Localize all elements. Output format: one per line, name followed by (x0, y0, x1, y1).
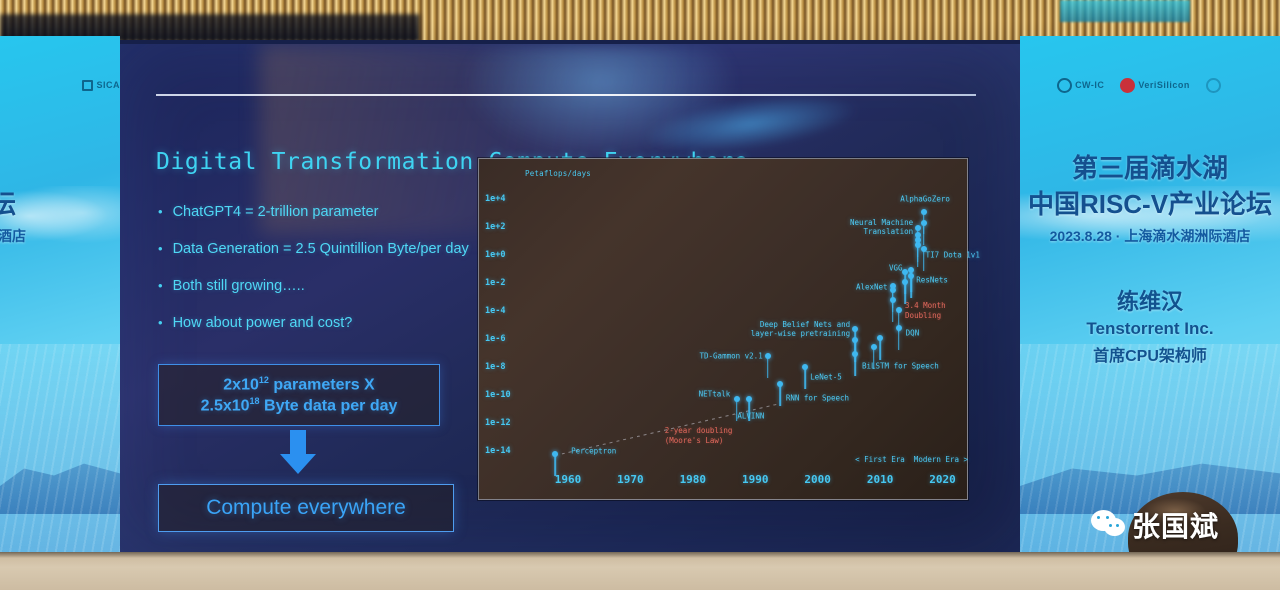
banner-speaker-company: Tenstorrent Inc. (1020, 319, 1280, 339)
data-point (915, 225, 921, 231)
formula-1-suffix: parameters X (269, 376, 375, 393)
formula-1-base: 2x10 (223, 376, 259, 393)
bullet-text: Both still growing….. (173, 278, 305, 294)
bullet-text: Data Generation = 2.5 Quintillion Byte/p… (173, 241, 469, 257)
data-point-labeled (777, 381, 783, 387)
data-point-stem (923, 249, 925, 271)
banner-speaker-role: 首席CPU架构师 (1020, 342, 1280, 366)
down-arrow-icon (280, 430, 316, 474)
wechat-eye (1097, 516, 1100, 519)
data-point-stem (555, 454, 557, 476)
wechat-bubble-small (1104, 518, 1125, 536)
banner-title-line-1: 第三届滴水湖 (1020, 148, 1280, 185)
cwic-label: CW-IC (1075, 80, 1104, 90)
x-axis-tick: 2010 (867, 473, 894, 486)
data-point-labeled (890, 287, 896, 293)
conclusion-text: Compute everywhere (206, 496, 406, 520)
formula-2-base: 2.5x10 (201, 397, 250, 414)
projector-glare (450, 46, 750, 166)
doubling-annotation: 2-year doubling (Moore's Law) (665, 426, 733, 446)
data-point-labeled (734, 396, 740, 402)
data-point-label: ResNets (916, 276, 948, 285)
banner-left-role: 师 (0, 342, 70, 366)
banner-title-line-2: 中国RISC-V产业论坛 (1020, 184, 1280, 221)
data-point-stem (892, 290, 894, 312)
sica-mark (82, 80, 93, 91)
projected-slide: Digital Transformation Compute Everywher… (120, 44, 1020, 552)
data-point (896, 307, 902, 313)
cwic-logo: CW-IC (1057, 78, 1104, 93)
x-axis-tick: 1960 (555, 473, 582, 486)
data-point-stem (854, 329, 856, 351)
data-point (871, 344, 877, 350)
y-axis-tick: 1e-6 (485, 334, 505, 344)
conclusion-box: Compute everywhere (158, 484, 454, 532)
verisilicon-label: VeriSilicon (1138, 80, 1190, 90)
data-point-labeled (852, 351, 858, 357)
partner-logo-4 (1237, 80, 1243, 90)
y-axis-tick: 1e-10 (485, 390, 511, 400)
data-point-label: Neural Machine Translation (850, 218, 913, 236)
ceiling-light-accent (1060, 0, 1190, 22)
sica-logo: SICA (82, 80, 120, 91)
bullet-dot-icon: • (158, 315, 163, 331)
formula-1-exp: 12 (259, 375, 269, 385)
banner-left-date-venue: 洲际酒店 (0, 226, 90, 246)
wechat-eye (1109, 524, 1112, 527)
verisilicon-mark (1120, 78, 1135, 93)
data-point-label: NETtalk (699, 389, 731, 398)
data-point-stem (879, 338, 881, 360)
bullet-text: ChatGPT4 = 2-trillion parameter (173, 204, 379, 220)
data-point-labeled (802, 364, 808, 370)
data-point-labeled (852, 326, 858, 332)
data-point-stem (911, 270, 913, 292)
y-axis-tick: 1e+4 (485, 194, 505, 204)
chart-axis-title: Petaflops/days (525, 169, 591, 178)
wechat-eye (1116, 524, 1119, 527)
data-point-label: TD-Gammon v2.1 (700, 351, 763, 360)
banner-sponsor-logo-row: CW-IC VeriSilicon (1020, 72, 1280, 98)
bullet-dot-icon: • (158, 241, 163, 257)
arrow-head (280, 454, 316, 474)
banner-left: SICA 水湖 业论坛 洲际酒店 nc. 师 (0, 36, 120, 554)
y-axis-tick: 1e-14 (485, 446, 511, 456)
bullet-dot-icon: • (158, 278, 163, 294)
doubling-annotation: 3.4 Month Doubling (905, 301, 946, 321)
banner-left-title-2: 业论坛 (0, 184, 58, 221)
banner-speaker-name: 练维汉 (1020, 284, 1280, 316)
data-point-label: Perceptron (571, 447, 616, 456)
bullet-dot-icon: • (158, 204, 163, 220)
data-point-stem (854, 354, 856, 376)
data-point-stem (904, 272, 906, 294)
data-point-label: TI7 Dota 1v1 (926, 251, 980, 260)
data-point-label: VGG (889, 263, 903, 272)
data-point-label: RNN for Speech (786, 393, 849, 402)
formula-callout-box: 2x1012 parameters X 2.5x1018 Byte data p… (158, 364, 440, 426)
floor-shadow (0, 552, 1280, 558)
data-point-label: LeNet-5 (810, 372, 842, 381)
formula-line-2: 2.5x1018 Byte data per day (201, 396, 398, 415)
title-rule (156, 94, 976, 96)
data-point-stem (767, 356, 769, 378)
data-point-labeled (552, 451, 558, 457)
data-point-labeled (746, 396, 752, 402)
partner-3-mark (1206, 78, 1221, 93)
data-point-labeled (908, 267, 914, 273)
banner-water (0, 344, 120, 554)
banner-left-company: nc. (0, 319, 78, 339)
data-point-stem (804, 367, 806, 389)
banner-left-logo-row: SICA (0, 72, 120, 98)
watermark: 张国斌 (1091, 505, 1219, 545)
data-point-labeled (921, 209, 927, 215)
arrow-stem (290, 430, 306, 456)
banner-right: CW-IC VeriSilicon 第三届滴水湖 中国RISC-V产业论坛 20… (1020, 36, 1280, 554)
data-point-stem (917, 235, 919, 257)
x-axis-tick: 1980 (680, 473, 707, 486)
formula-2-suffix: Byte data per day (260, 397, 398, 414)
wechat-icon (1091, 510, 1125, 540)
y-axis-tick: 1e-4 (485, 306, 505, 316)
x-axis-tick: 1970 (617, 473, 644, 486)
banner-left-title-1: 水湖 (0, 148, 42, 185)
partner-logo-3 (1206, 78, 1221, 93)
era-annotation: < First Era Modern Era > (855, 455, 968, 464)
bullet-text: How about power and cost? (173, 315, 353, 331)
formula-line-1: 2x1012 parameters X (223, 375, 374, 394)
data-point-stem (779, 384, 781, 406)
verisilicon-logo: VeriSilicon (1120, 78, 1190, 93)
y-axis-tick: 1e-12 (485, 418, 511, 428)
data-point-label: Deep Belief Nets and layer-wise pretrain… (751, 320, 850, 338)
partner-logo-faint (43, 80, 52, 90)
data-point (877, 335, 883, 341)
y-axis-tick: 1e+0 (485, 250, 505, 260)
chart-plot-area: Petaflops/days1e+41e+21e+01e-21e-41e-61e… (479, 159, 967, 499)
y-axis-tick: 1e+2 (485, 222, 505, 232)
data-point-labeled (896, 325, 902, 331)
data-point-label: BiLSTM for Speech (862, 361, 939, 370)
data-point-labeled (765, 353, 771, 359)
cwic-mark (1057, 78, 1072, 93)
data-point-label: AlexNet (856, 283, 888, 292)
x-axis-tick: 1990 (742, 473, 769, 486)
data-point-stem (898, 328, 900, 350)
watermark-text: 张国斌 (1132, 505, 1219, 545)
data-point-label: DQN (906, 329, 920, 338)
sica-logo-label: SICA (96, 80, 120, 90)
formula-2-exp: 18 (250, 396, 260, 406)
data-point-stem (923, 212, 925, 234)
data-point-label: ALVINN (737, 412, 764, 421)
data-point-labeled (915, 232, 921, 238)
banner-date-venue: 2023.8.28 · 上海滴水湖洲际酒店 (1020, 226, 1280, 246)
y-axis-tick: 1e-2 (485, 278, 505, 288)
x-axis-tick: 2000 (804, 473, 831, 486)
ai-compute-chart: Petaflops/days1e+41e+21e+01e-21e-41e-61e… (478, 158, 968, 500)
data-point-label: AlphaGoZero (900, 195, 950, 204)
y-axis-tick: 1e-8 (485, 362, 505, 372)
conference-photo: SICA 水湖 业论坛 洲际酒店 nc. 师 CW-IC VeriSilicon (0, 0, 1280, 590)
x-axis-tick: 2020 (929, 473, 956, 486)
